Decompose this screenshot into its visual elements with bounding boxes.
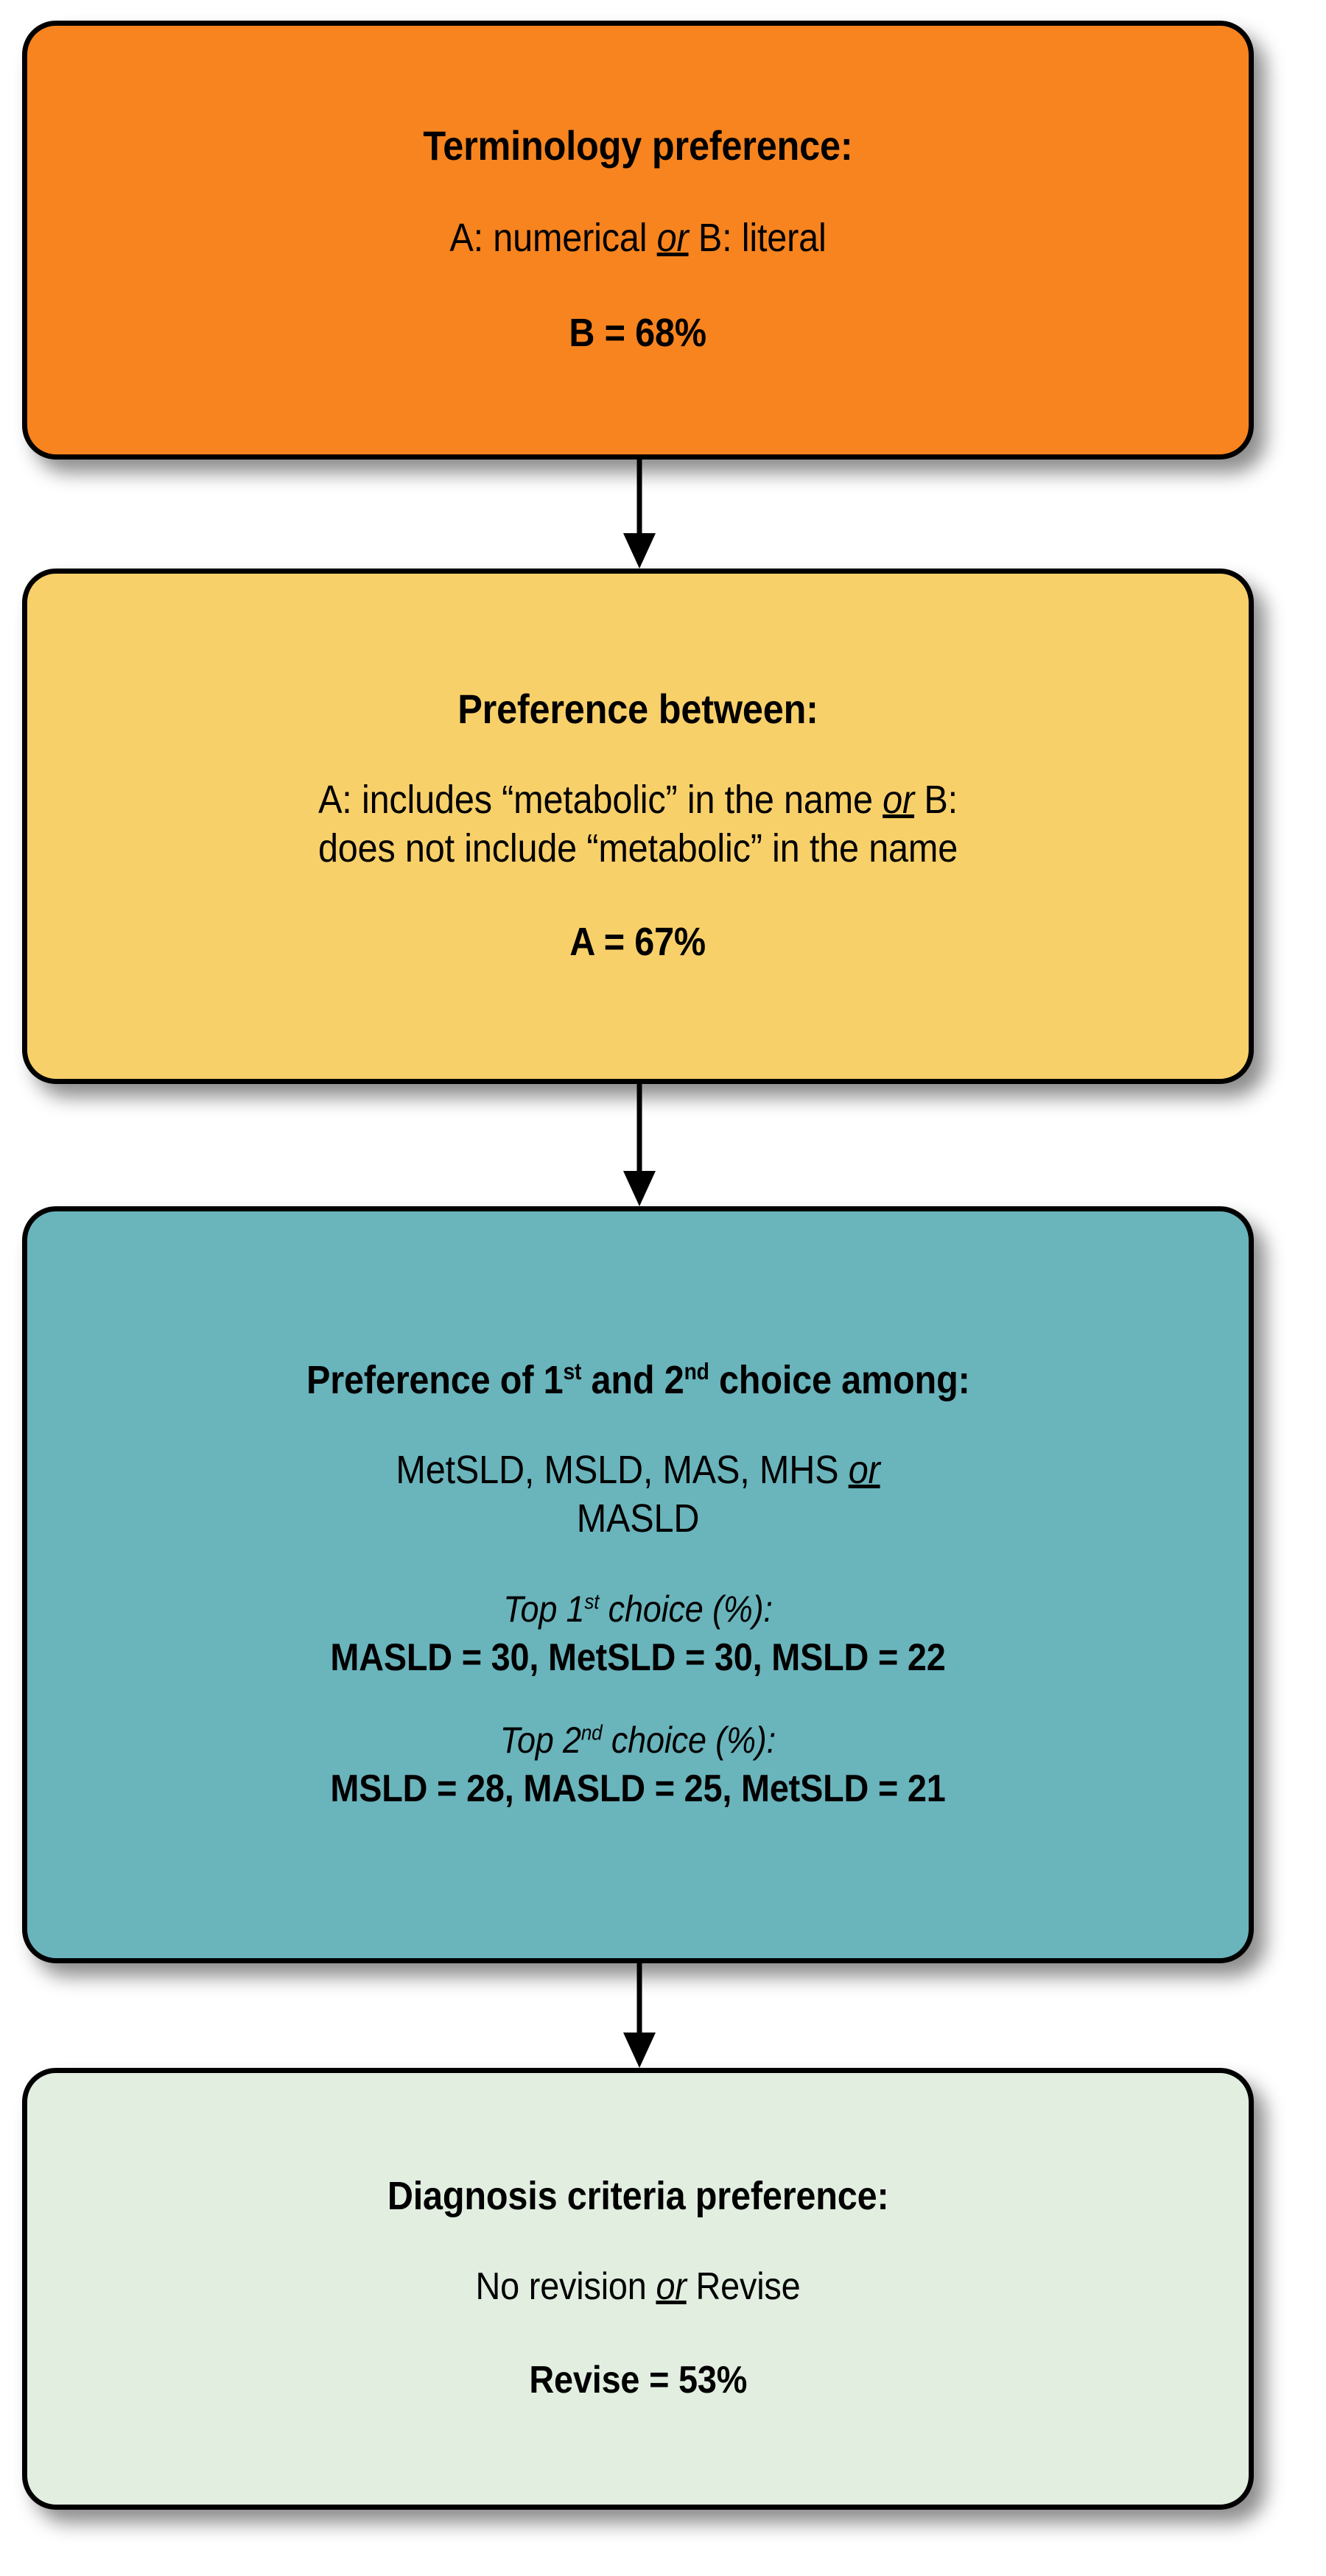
choice-options: MetSLD, MSLD, MAS, MHS or MASLD (314, 1446, 962, 1544)
terminology-option-b: B: literal (689, 216, 827, 260)
flow-node-metabolic-preference[interactable]: Preference between: A: includes “metabol… (22, 569, 1254, 1084)
choice-second-label-post: choice (%): (603, 1720, 776, 1761)
criteria-or: or (656, 2265, 686, 2308)
terminology-title: Terminology preference: (399, 124, 877, 167)
arrow-metabolic-to-choice (620, 1084, 659, 1208)
metabolic-title: Preference between: (438, 688, 838, 731)
flow-node-choice-preference[interactable]: Preference of 1st and 2nd choice among: … (22, 1206, 1254, 1963)
flowchart: Terminology preference: A: numerical or … (0, 0, 1326, 2576)
choice-second-label: Top 2nd choice (%): (296, 1720, 980, 1761)
criteria-options: No revision or Revise (457, 2264, 818, 2310)
criteria-result: Revise = 53% (517, 2358, 760, 2402)
metabolic-options: A: includes “metabolic” in the name or B… (255, 776, 1021, 873)
terminology-options: A: numerical or B: literal (429, 214, 847, 263)
choice-first-label-sup: st (584, 1590, 599, 1613)
arrow-terminology-to-metabolic (620, 460, 659, 570)
choice-title-sup-first: st (563, 1359, 581, 1384)
choice-second-values: MSLD = 28, MASLD = 25, MetSLD = 21 (296, 1768, 980, 1810)
arrow-choice-to-criteria (620, 1963, 659, 2069)
metabolic-result: A = 67% (562, 919, 713, 965)
flow-node-diagnosis-criteria[interactable]: Diagnosis criteria preference: No revisi… (22, 2068, 1254, 2510)
choice-group-first: Top 1st choice (%): MASLD = 30, MetSLD =… (296, 1589, 980, 1679)
choice-option-list: MetSLD, MSLD, MAS, MHS (396, 1448, 848, 1492)
metabolic-or: or (883, 778, 914, 822)
criteria-option-b: Revise (687, 2265, 801, 2308)
choice-first-label: Top 1st choice (%): (296, 1589, 980, 1630)
choice-first-label-post: choice (%): (599, 1588, 772, 1630)
choice-second-label-pre: Top 2 (500, 1720, 581, 1761)
choice-or: or (849, 1448, 880, 1492)
choice-title-sup-second: nd (684, 1359, 709, 1384)
choice-second-label-sup: nd (581, 1721, 603, 1745)
choice-title: Preference of 1st and 2nd choice among: (270, 1359, 1007, 1401)
terminology-result: B = 68% (561, 310, 714, 356)
terminology-option-a: A: numerical (449, 216, 656, 260)
metabolic-option-a: A: includes “metabolic” in the name (318, 778, 883, 822)
choice-title-pre: Preference of 1 (306, 1358, 563, 1402)
terminology-or: or (657, 216, 689, 260)
choice-group-second: Top 2nd choice (%): MSLD = 28, MASLD = 2… (296, 1720, 980, 1810)
choice-first-values: MASLD = 30, MetSLD = 30, MSLD = 22 (296, 1637, 980, 1679)
choice-title-mid: and 2 (581, 1358, 684, 1402)
criteria-option-a: No revision (476, 2265, 656, 2308)
criteria-title: Diagnosis criteria preference: (359, 2175, 916, 2217)
choice-first-label-pre: Top 1 (503, 1588, 584, 1630)
flow-node-terminology-preference[interactable]: Terminology preference: A: numerical or … (22, 21, 1254, 460)
choice-title-post: choice among: (709, 1358, 969, 1402)
